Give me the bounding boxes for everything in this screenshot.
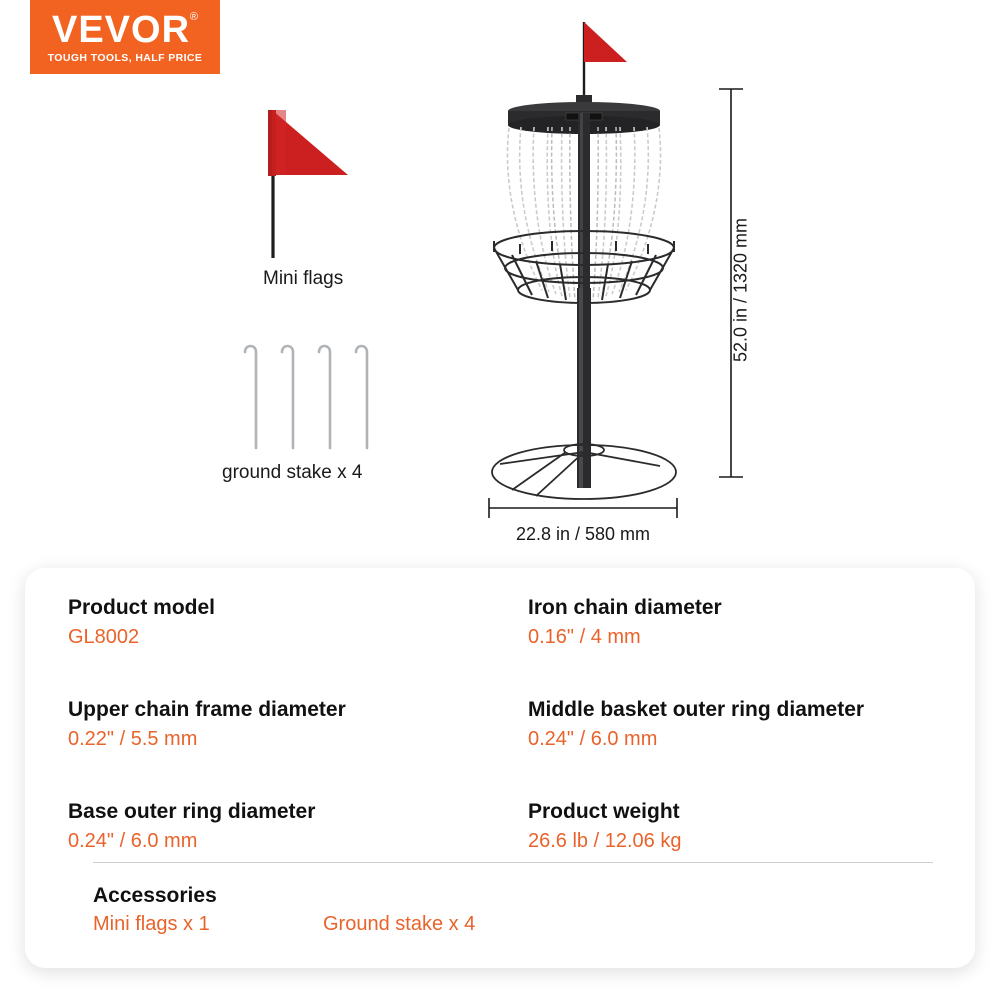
specification-grid: Product model GL8002 Iron chain diameter…: [68, 594, 932, 854]
spec-label: Product model: [68, 594, 528, 622]
spec-value: GL8002: [68, 624, 528, 650]
accessories-label: Accessories: [93, 882, 475, 910]
spec-value: 0.24" / 6.0 mm: [68, 828, 528, 854]
spec-row: Base outer ring diameter 0.24" / 6.0 mm …: [68, 798, 932, 854]
spec-value: 0.24" / 6.0 mm: [528, 726, 932, 752]
spec-label: Middle basket outer ring diameter: [528, 696, 932, 724]
spec-label: Iron chain diameter: [528, 594, 932, 622]
spec-cell-base-outer-ring-diameter: Base outer ring diameter 0.24" / 6.0 mm: [68, 798, 528, 854]
spec-cell-product-model: Product model GL8002: [68, 594, 528, 650]
spec-row: Product model GL8002 Iron chain diameter…: [68, 594, 932, 650]
spec-label: Base outer ring diameter: [68, 798, 528, 826]
ground-stake-caption: ground stake x 4: [222, 462, 362, 484]
width-dimension-label: 22.8 in / 580 mm: [516, 524, 650, 545]
mini-flags-caption: Mini flags: [263, 268, 343, 290]
spec-value: 26.6 lb / 12.06 kg: [528, 828, 932, 854]
spec-label: Product weight: [528, 798, 932, 826]
spec-cell-middle-basket-outer-ring-diameter: Middle basket outer ring diameter 0.24" …: [528, 696, 932, 752]
height-dimension-label: 52.0 in / 1320 mm: [731, 218, 752, 362]
specification-card: Product model GL8002 Iron chain diameter…: [25, 568, 975, 968]
spec-cell-iron-chain-diameter: Iron chain diameter 0.16" / 4 mm: [528, 594, 932, 650]
spec-value: 0.22" / 5.5 mm: [68, 726, 528, 752]
spec-label: Upper chain frame diameter: [68, 696, 528, 724]
mini-flag-accessory: [268, 110, 348, 258]
basket-top-flag: [584, 22, 627, 98]
product-illustration: [0, 0, 1000, 565]
spec-cell-upper-chain-frame-diameter: Upper chain frame diameter 0.22" / 5.5 m…: [68, 696, 528, 752]
accessories-section: Accessories Mini flags x 1 Ground stake …: [93, 882, 475, 936]
disc-golf-basket: [492, 22, 676, 499]
width-dimension-line: [489, 498, 677, 518]
accessory-item-ground-stake: Ground stake x 4: [323, 913, 475, 936]
spec-cell-product-weight: Product weight 26.6 lb / 12.06 kg: [528, 798, 932, 854]
spec-value: 0.16" / 4 mm: [528, 624, 932, 650]
ground-stake-accessory: [245, 346, 367, 448]
accessories-items: Mini flags x 1 Ground stake x 4: [93, 913, 475, 936]
spec-row: Upper chain frame diameter 0.22" / 5.5 m…: [68, 696, 932, 752]
accessory-item-mini-flags: Mini flags x 1: [93, 913, 323, 936]
accessories-divider: [93, 862, 933, 863]
